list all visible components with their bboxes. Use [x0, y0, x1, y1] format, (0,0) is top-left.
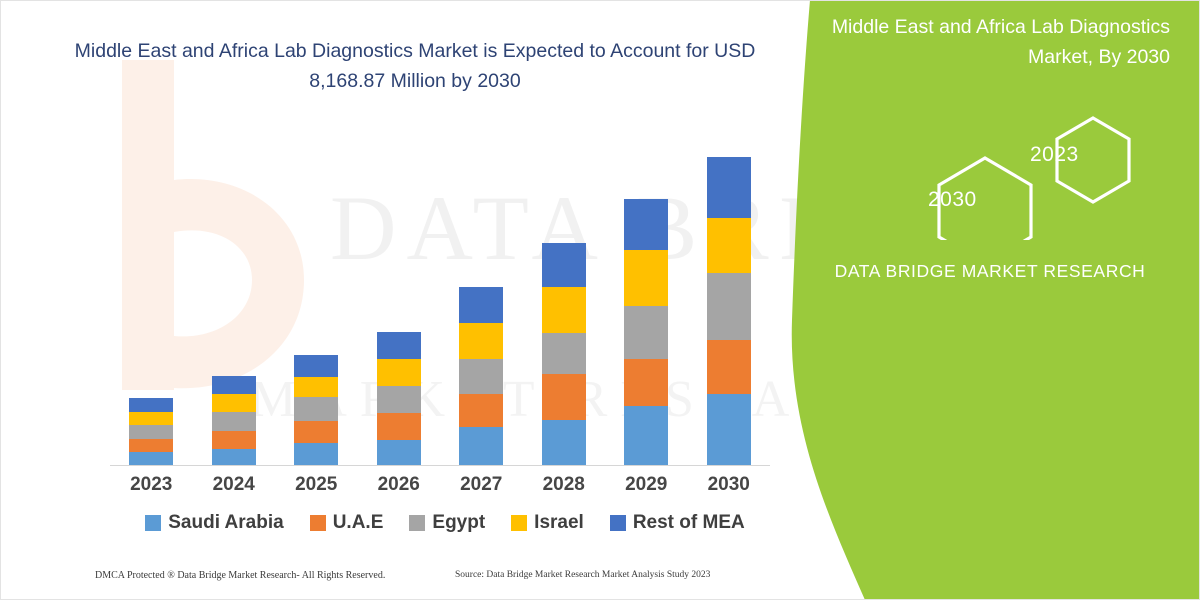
x-tick-2025: 2025	[276, 474, 356, 496]
segment-rest-of-mea-2026	[377, 332, 421, 359]
footer-source: Source: Data Bridge Market Research Mark…	[455, 570, 710, 580]
segment-u-a-e-2030	[707, 340, 751, 394]
segment-egypt-2023	[129, 425, 173, 439]
segment-egypt-2025	[294, 397, 338, 421]
x-tick-2027: 2027	[441, 474, 521, 496]
legend-item-egypt[interactable]: Egypt	[409, 512, 485, 534]
bar-2025	[294, 355, 338, 465]
legend-swatch-icon	[409, 515, 425, 531]
panel-title: Middle East and Africa Lab Diagnostics M…	[810, 12, 1170, 72]
segment-u-a-e-2026	[377, 413, 421, 440]
segment-rest-of-mea-2023	[129, 398, 173, 412]
footer: DMCA Protected ® Data Bridge Market Rese…	[0, 566, 800, 594]
bar-2028	[542, 243, 586, 465]
segment-u-a-e-2028	[542, 374, 586, 420]
segment-israel-2023	[129, 412, 173, 425]
chart-title: Middle East and Africa Lab Diagnostics M…	[70, 36, 760, 96]
segment-rest-of-mea-2024	[212, 376, 256, 394]
legend-label: Egypt	[432, 512, 485, 534]
legend-item-israel[interactable]: Israel	[511, 512, 584, 534]
segment-rest-of-mea-2030	[707, 157, 751, 218]
x-tick-2029: 2029	[606, 474, 686, 496]
segment-israel-2024	[212, 394, 256, 412]
segment-israel-2027	[459, 323, 503, 359]
hexagon-outlines	[890, 110, 1170, 240]
segment-u-a-e-2025	[294, 421, 338, 443]
segment-egypt-2030	[707, 273, 751, 340]
segment-egypt-2028	[542, 333, 586, 374]
footer-copyright: DMCA Protected ® Data Bridge Market Rese…	[95, 570, 385, 581]
segment-israel-2028	[542, 287, 586, 333]
panel-brand-name: DATA BRIDGE MARKET RESEARCH	[830, 258, 1150, 285]
hexagon-2023-label: 2023	[1030, 143, 1079, 167]
segment-egypt-2024	[212, 412, 256, 431]
segment-saudi-arabia-2028	[542, 420, 586, 465]
segment-u-a-e-2029	[624, 359, 668, 406]
segment-rest-of-mea-2025	[294, 355, 338, 377]
segment-israel-2026	[377, 359, 421, 386]
legend-swatch-icon	[310, 515, 326, 531]
x-tick-2024: 2024	[194, 474, 274, 496]
legend-item-saudi-arabia[interactable]: Saudi Arabia	[145, 512, 283, 534]
segment-saudi-arabia-2029	[624, 406, 668, 465]
segment-u-a-e-2024	[212, 431, 256, 449]
segment-rest-of-mea-2028	[542, 243, 586, 287]
segment-egypt-2029	[624, 306, 668, 359]
bar-2030	[707, 157, 751, 465]
x-tick-2028: 2028	[524, 474, 604, 496]
legend-label: U.A.E	[333, 512, 384, 534]
legend-swatch-icon	[145, 515, 161, 531]
segment-saudi-arabia-2024	[212, 449, 256, 465]
infographic-root: DATA BRIDGE MARKET RESEARCH Middle East …	[0, 0, 1200, 600]
segment-u-a-e-2023	[129, 439, 173, 452]
segment-israel-2025	[294, 377, 338, 397]
x-axis-labels: 20232024202520262027202820292030	[110, 474, 770, 502]
legend-label: Rest of MEA	[633, 512, 745, 534]
segment-saudi-arabia-2025	[294, 443, 338, 465]
x-tick-2026: 2026	[359, 474, 439, 496]
hexagon-group: 2030 2023	[890, 110, 1170, 240]
legend-swatch-icon	[511, 515, 527, 531]
bar-2026	[377, 332, 421, 465]
chart-legend: Saudi ArabiaU.A.EEgyptIsraelRest of MEA	[110, 508, 780, 538]
segment-saudi-arabia-2030	[707, 394, 751, 465]
segment-rest-of-mea-2027	[459, 287, 503, 323]
segment-israel-2029	[624, 250, 668, 306]
x-tick-2023: 2023	[111, 474, 191, 496]
segment-saudi-arabia-2027	[459, 427, 503, 465]
bar-2029	[624, 199, 668, 465]
segment-u-a-e-2027	[459, 394, 503, 427]
segment-saudi-arabia-2026	[377, 440, 421, 465]
x-axis-line	[110, 465, 770, 466]
legend-label: Saudi Arabia	[168, 512, 283, 534]
chart-plot-area	[110, 140, 770, 466]
legend-label: Israel	[534, 512, 584, 534]
segment-egypt-2026	[377, 386, 421, 413]
segment-saudi-arabia-2023	[129, 452, 173, 465]
legend-item-u-a-e[interactable]: U.A.E	[310, 512, 384, 534]
bar-2027	[459, 287, 503, 465]
legend-swatch-icon	[610, 515, 626, 531]
legend-item-rest-of-mea[interactable]: Rest of MEA	[610, 512, 745, 534]
green-panel-content: Middle East and Africa Lab Diagnostics M…	[770, 0, 1200, 600]
bar-2023	[129, 398, 173, 465]
segment-israel-2030	[707, 218, 751, 273]
bar-2024	[212, 376, 256, 465]
segment-egypt-2027	[459, 359, 503, 394]
hexagon-2030-label: 2030	[928, 188, 977, 212]
x-tick-2030: 2030	[689, 474, 769, 496]
segment-rest-of-mea-2029	[624, 199, 668, 250]
